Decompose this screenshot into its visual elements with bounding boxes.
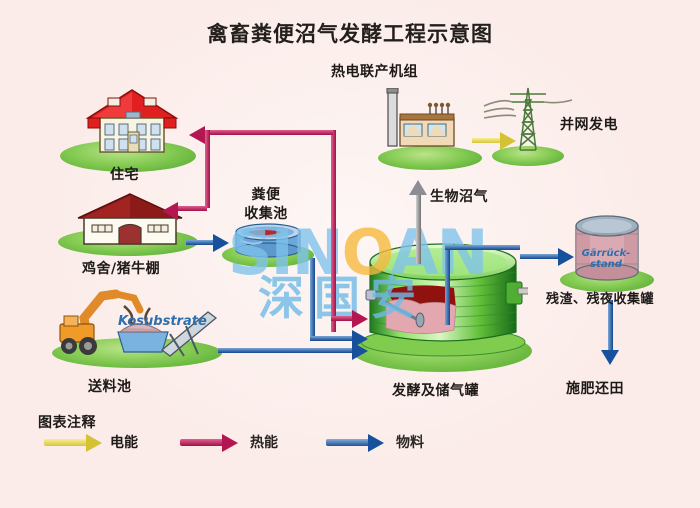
barn-icon (72, 192, 188, 248)
biogas-arrow-line (416, 192, 421, 264)
heat-arrow-chp-down (331, 130, 336, 332)
material-arrow-feed-to-digester-line (218, 348, 353, 353)
biogas-arrow-head (409, 180, 427, 195)
material-arrow-barn-to-pool-head (213, 234, 229, 252)
diagram-canvas: 禽畜粪便沼气发酵工程示意图 SINOAN 深国安 (0, 0, 700, 508)
residue-tank-icon (570, 212, 644, 282)
legend-title: 图表注释 (38, 412, 96, 432)
legend-label-material: 物料 (396, 432, 424, 452)
house-label: 住宅 (110, 164, 139, 184)
digester-gas-pipe-vertical (445, 245, 450, 325)
heat-arrow-to-barn-head (162, 202, 178, 220)
legend-label-heat: 热能 (250, 432, 278, 452)
heat-arrow-to-house-head (189, 126, 205, 144)
material-arrow-residue-down-head (601, 350, 619, 365)
biogas-label: 生物沼气 (430, 186, 488, 206)
material-arrow-pool-to-digester-line (310, 336, 353, 341)
legend-swatch-material (326, 439, 370, 446)
feed-pool-sub-label: Kosubstrate (118, 314, 207, 329)
residue-tank-sub-label-line1: Gärrück- (578, 248, 634, 259)
legend-swatch-electricity (44, 439, 88, 446)
manure-tank-icon (232, 222, 304, 262)
heat-arrow-branch-down (205, 130, 210, 208)
fertilize-label: 施肥还田 (566, 378, 624, 398)
digester-gas-pipe-horizontal (445, 245, 520, 250)
manure-pool-label-line1: 粪便 (228, 186, 304, 205)
manure-pool-label-line2: 收集池 (228, 205, 304, 224)
residue-tank-label: 残渣、残夜收集罐 (546, 288, 654, 307)
digester-tank-icon (358, 238, 528, 358)
material-arrow-residue-down (608, 300, 613, 352)
heat-arrow-to-digester-head (352, 310, 368, 328)
legend-item-electricity: 电能 (44, 432, 174, 454)
house-icon (78, 88, 186, 160)
legend-item-material: 物料 (326, 432, 466, 454)
barn-label: 鸡舍/猪牛棚 (82, 258, 160, 278)
legend-arrowhead-electricity (86, 434, 102, 452)
power-plant-icon (382, 88, 482, 154)
heat-arrow-to-barn-line (178, 206, 207, 211)
material-arrow-barn-to-pool-line (186, 240, 214, 245)
chp-label: 热电联产机组 (331, 61, 418, 81)
digester-label: 发酵及储气罐 (392, 380, 479, 400)
material-arrow-feed-to-digester-head (352, 342, 368, 360)
manure-pool-label: 粪便 收集池 (228, 186, 304, 224)
legend-swatch-heat (180, 439, 224, 446)
feed-pool-label: 送料池 (88, 376, 132, 396)
legend-arrowhead-heat (222, 434, 238, 452)
legend-item-heat: 热能 (180, 432, 320, 454)
page-title: 禽畜粪便沼气发酵工程示意图 (0, 18, 700, 48)
residue-tank-sub-label: Gärrück- stand (578, 248, 634, 270)
heat-arrow-to-house-line (205, 130, 333, 135)
legend-label-electricity: 电能 (110, 432, 138, 452)
electricity-arrow-head (500, 132, 516, 150)
legend: 电能 热能 物料 (44, 432, 464, 458)
grid-label: 并网发电 (560, 114, 618, 134)
material-arrow-digester-to-residue-line (520, 254, 560, 259)
material-arrow-digester-to-residue-head (558, 248, 574, 266)
electricity-arrow-line (472, 138, 502, 143)
heat-arrow-to-digester-line (331, 316, 353, 321)
residue-tank-sub-label-line2: stand (578, 259, 634, 270)
legend-arrowhead-material (368, 434, 384, 452)
material-arrow-pool-down (310, 258, 315, 338)
